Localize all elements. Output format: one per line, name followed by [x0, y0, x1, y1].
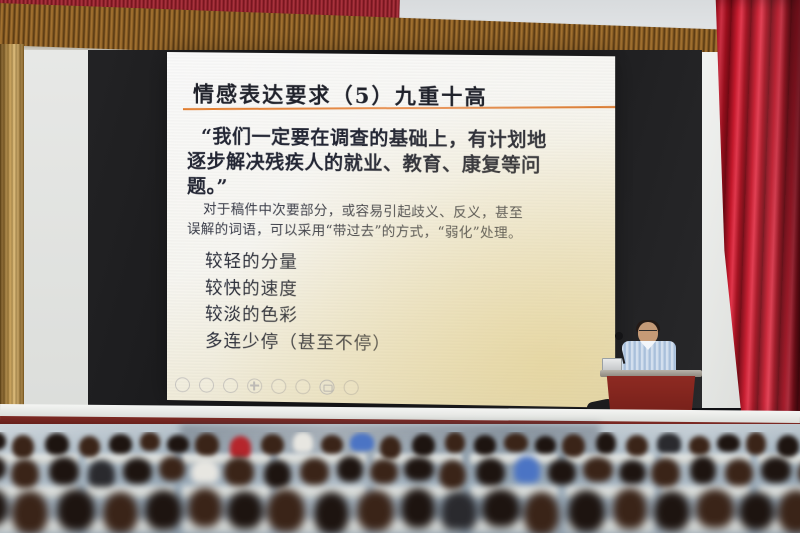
- audience-head: [657, 433, 681, 453]
- zoom-icon[interactable]: [271, 379, 286, 394]
- audience-head: [0, 432, 6, 450]
- audience-head: [79, 436, 100, 457]
- more-options-icon[interactable]: [295, 379, 310, 394]
- presenter-toolbar[interactable]: [175, 377, 359, 395]
- left-wood-pillar: [0, 44, 24, 424]
- audience-head: [337, 456, 363, 482]
- audience-head: [230, 436, 251, 458]
- note-line-2: 误解的词语，可以采用“带过去”的方式，“弱化”处理。: [187, 220, 607, 245]
- audience-head: [167, 435, 189, 453]
- audience-head: [562, 434, 585, 457]
- audience-head: [195, 433, 219, 456]
- all-slides-icon[interactable]: [247, 378, 262, 393]
- audience-head: [11, 459, 39, 488]
- audience-head: [267, 489, 305, 532]
- glasses-icon: [639, 330, 657, 335]
- audience-head: [159, 456, 185, 481]
- audience-head: [690, 456, 716, 484]
- slide-content: 情感表达要求（5）九重十高 “我们一定要在调查的基础上，有计划地 逐步解决残疾人…: [167, 52, 615, 408]
- slide-quote: “我们一定要在调查的基础上，有计划地 逐步解决残疾人的就业、教育、康复等问 题。…: [187, 124, 601, 205]
- audience-head: [445, 432, 465, 453]
- audience-head: [12, 435, 34, 458]
- audience-head: [524, 492, 559, 533]
- audience-head: [717, 434, 740, 452]
- audience: [0, 432, 800, 533]
- audience-head: [404, 457, 434, 481]
- subtitles-icon[interactable]: [319, 380, 334, 395]
- prev-slide-icon[interactable]: [175, 377, 190, 392]
- audience-head: [261, 434, 284, 455]
- audience-head: [651, 458, 680, 487]
- quote-line-2: 逐步解决残疾人的就业、教育、康复等问: [187, 149, 601, 179]
- audience-head: [777, 435, 799, 457]
- audience-head: [654, 491, 690, 531]
- audience-head: [57, 489, 95, 531]
- audience-head: [191, 459, 219, 483]
- audience-head: [224, 457, 254, 486]
- audience-head: [535, 436, 556, 454]
- pointer-icon[interactable]: [223, 378, 238, 393]
- audience-head: [412, 434, 435, 456]
- audience-head: [357, 490, 394, 531]
- audience-head: [514, 456, 540, 483]
- audience-head: [504, 433, 528, 452]
- audience-head: [45, 433, 69, 455]
- audience-head: [88, 460, 115, 487]
- left-wall: [22, 50, 90, 405]
- lectern-top: [600, 370, 702, 377]
- slide-bullet-list: 较轻的分量 较快的速度 较淡的色彩 多连少停（甚至不停）: [205, 249, 609, 362]
- pen-icon[interactable]: [199, 378, 214, 393]
- next-slide-icon[interactable]: [344, 380, 359, 395]
- audience-head: [188, 488, 222, 527]
- projection-screen: 情感表达要求（5）九重十高 “我们一定要在调查的基础上，有计划地 逐步解决残疾人…: [167, 52, 615, 408]
- audience-head: [441, 491, 477, 530]
- audience-head: [596, 432, 616, 454]
- audience-head: [12, 491, 48, 533]
- audience-head: [696, 489, 734, 528]
- audience-head: [103, 492, 138, 533]
- audience-head: [474, 435, 496, 455]
- audience-head: [613, 488, 647, 529]
- audience-head: [370, 459, 398, 484]
- audience-head: [568, 490, 605, 532]
- audience-head: [145, 490, 182, 530]
- audience-head: [321, 435, 343, 454]
- audience-head: [140, 432, 160, 451]
- audience-head: [725, 459, 753, 486]
- audience-head: [548, 459, 576, 485]
- audience-head: [482, 489, 520, 527]
- audience-head: [583, 457, 613, 482]
- audience-head: [739, 492, 774, 530]
- lecture-hall-photo: 情感表达要求（5）九重十高 “我们一定要在调查的基础上，有计划地 逐步解决残疾人…: [0, 0, 800, 533]
- audience-head: [350, 433, 374, 451]
- audience-head: [314, 492, 349, 533]
- audience-head: [49, 457, 79, 485]
- audience-head: [401, 488, 435, 528]
- microphone-icon: [615, 332, 623, 340]
- audience-head: [227, 491, 263, 529]
- audience-head: [746, 432, 766, 455]
- list-item: 多连少停（甚至不停）: [205, 328, 609, 361]
- audience-head: [619, 460, 646, 484]
- audience-head: [761, 457, 791, 483]
- audience-head: [439, 460, 466, 489]
- audience-head: [264, 460, 291, 488]
- slide-note: 对于稿件中次要部分，或容易引起歧义、反义，甚至 误解的词语，可以采用“带过去”的…: [187, 200, 607, 245]
- audience-head: [123, 458, 152, 484]
- audience-head: [626, 435, 648, 456]
- audience-head: [689, 436, 710, 455]
- audience-head: [109, 434, 132, 454]
- audience-head: [300, 458, 329, 485]
- audience-head: [476, 458, 505, 486]
- audience-head: [293, 432, 313, 452]
- audience-head: [380, 436, 401, 459]
